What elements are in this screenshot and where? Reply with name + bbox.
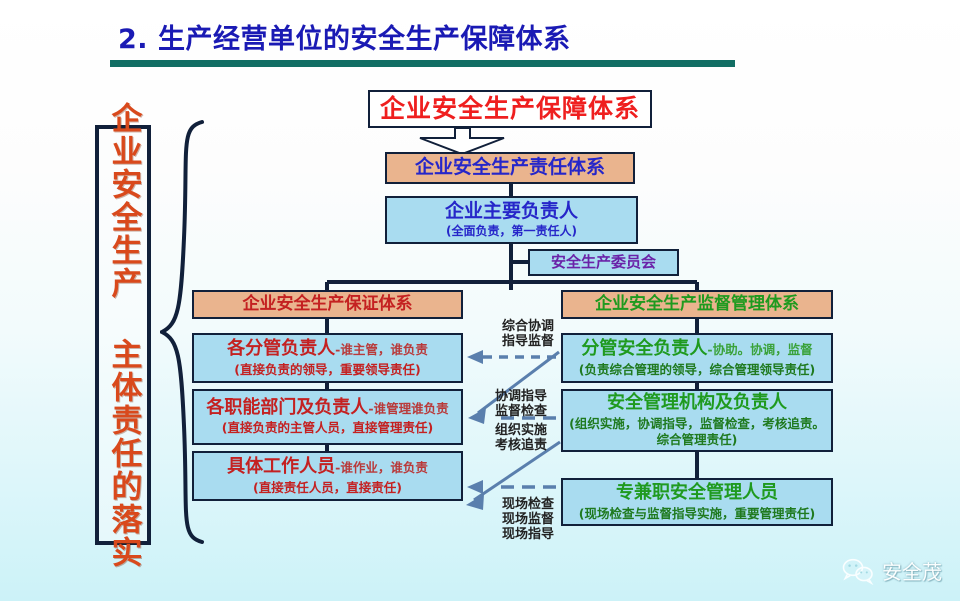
node-right-row-1[interactable]: 分管安全负责人-协助。协调，监督 (负责综合管理的领导，综合管理领导责任) xyxy=(561,333,833,383)
node-right-row-1-sub: (负责综合管理的领导，综合管理领导责任) xyxy=(579,363,815,377)
node-left-row-2[interactable]: 各职能部门及负责人-谁管理谁负责 (直接负责的主管人员，直接管理责任) xyxy=(192,389,463,445)
node-right-row-2[interactable]: 安全管理机构及负责人 (组织实施，协调指导，监督检查，考核追责。综合管理责任) xyxy=(561,389,833,452)
node-responsibility-label: 企业安全生产责任体系 xyxy=(415,157,605,178)
node-left-row-1-title: 各分管负责人-谁主管，谁负责 xyxy=(227,339,428,359)
wechat-icon xyxy=(841,557,875,585)
connector-label-1: 综合协调 指导监督 xyxy=(487,320,569,350)
node-right-row-3[interactable]: 专兼职安全管理人员 (现场检查与监督指导实施，重要管理责任) xyxy=(561,478,833,526)
node-safety-committee[interactable]: 安全生产委员会 xyxy=(528,249,679,276)
watermark: 安全茂 xyxy=(841,556,942,585)
page-title: 2. 生产经营单位的安全生产保障体系 xyxy=(118,17,570,56)
node-left-row-2-title: 各职能部门及负责人-谁管理谁负责 xyxy=(206,399,448,418)
node-right-row-2-title: 安全管理机构及负责人 xyxy=(607,393,787,413)
node-left-row-3-tail: -谁作业，谁负责 xyxy=(335,460,428,475)
node-left-row-3-sub: (直接责任人员，直接责任) xyxy=(253,481,402,495)
node-left-row-1[interactable]: 各分管负责人-谁主管，谁负责 (直接负责的领导，重要领导责任) xyxy=(192,333,463,383)
node-left-row-2-sub: (直接负责的主管人员，直接管理责任) xyxy=(222,421,433,435)
connector-label-3: 组织实施 考核追责 xyxy=(480,424,562,454)
node-left-row-3[interactable]: 具体工作人员-谁作业，谁负责 (直接责任人员，直接责任) xyxy=(192,451,463,501)
node-left-row-2-tail: -谁管理谁负责 xyxy=(368,401,448,416)
node-left-head[interactable]: 企业安全生产保证体系 xyxy=(192,290,463,319)
connector-label-2: 协调指导 监督检查 xyxy=(480,390,562,420)
node-principal[interactable]: 企业主要负责人 (全面负责，第一责任人) xyxy=(385,196,638,244)
node-root-system[interactable]: 企业安全生产保障体系 xyxy=(368,90,652,128)
node-principal-label: 企业主要负责人 xyxy=(445,201,578,222)
connector-label-4: 现场检查 现场监督 现场指导 xyxy=(487,498,569,543)
node-right-row-1-title: 分管安全负责人-协助。协调，监督 xyxy=(581,339,812,359)
node-right-head-label: 企业安全生产监督管理体系 xyxy=(595,295,799,314)
title-divider xyxy=(110,60,735,67)
slide-canvas: 2. 生产经营单位的安全生产保障体系 企业安全生产 主体责任的落实 xyxy=(0,0,960,601)
node-right-row-3-sub: (现场检查与监督指导实施，重要管理责任) xyxy=(579,507,815,521)
node-root-label: 企业安全生产保障体系 xyxy=(380,95,640,123)
node-left-row-1-tail: -谁主管，谁负责 xyxy=(335,342,428,357)
watermark-text: 安全茂 xyxy=(882,556,942,585)
node-right-row-3-title: 专兼职安全管理人员 xyxy=(616,483,778,503)
node-left-head-label: 企业安全生产保证体系 xyxy=(243,295,413,314)
node-right-row-2-sub: (组织实施，协调指导，监督检查，考核追责。综合管理责任) xyxy=(563,416,831,447)
node-right-row-1-tail: -协助。协调，监督 xyxy=(707,342,812,357)
node-safety-committee-label: 安全生产委员会 xyxy=(551,254,656,271)
node-principal-sub: (全面负责，第一责任人) xyxy=(446,225,577,238)
node-responsibility-system[interactable]: 企业安全生产责任体系 xyxy=(385,152,635,184)
node-right-head[interactable]: 企业安全生产监督管理体系 xyxy=(561,290,833,319)
vertical-title-box: 企业安全生产 主体责任的落实 xyxy=(95,125,151,545)
node-left-row-1-sub: (直接负责的领导，重要领导责任) xyxy=(234,363,420,377)
node-left-row-3-title: 具体工作人员-谁作业，谁负责 xyxy=(227,457,428,477)
vertical-title-text: 企业安全生产 主体责任的落实 xyxy=(108,102,139,569)
